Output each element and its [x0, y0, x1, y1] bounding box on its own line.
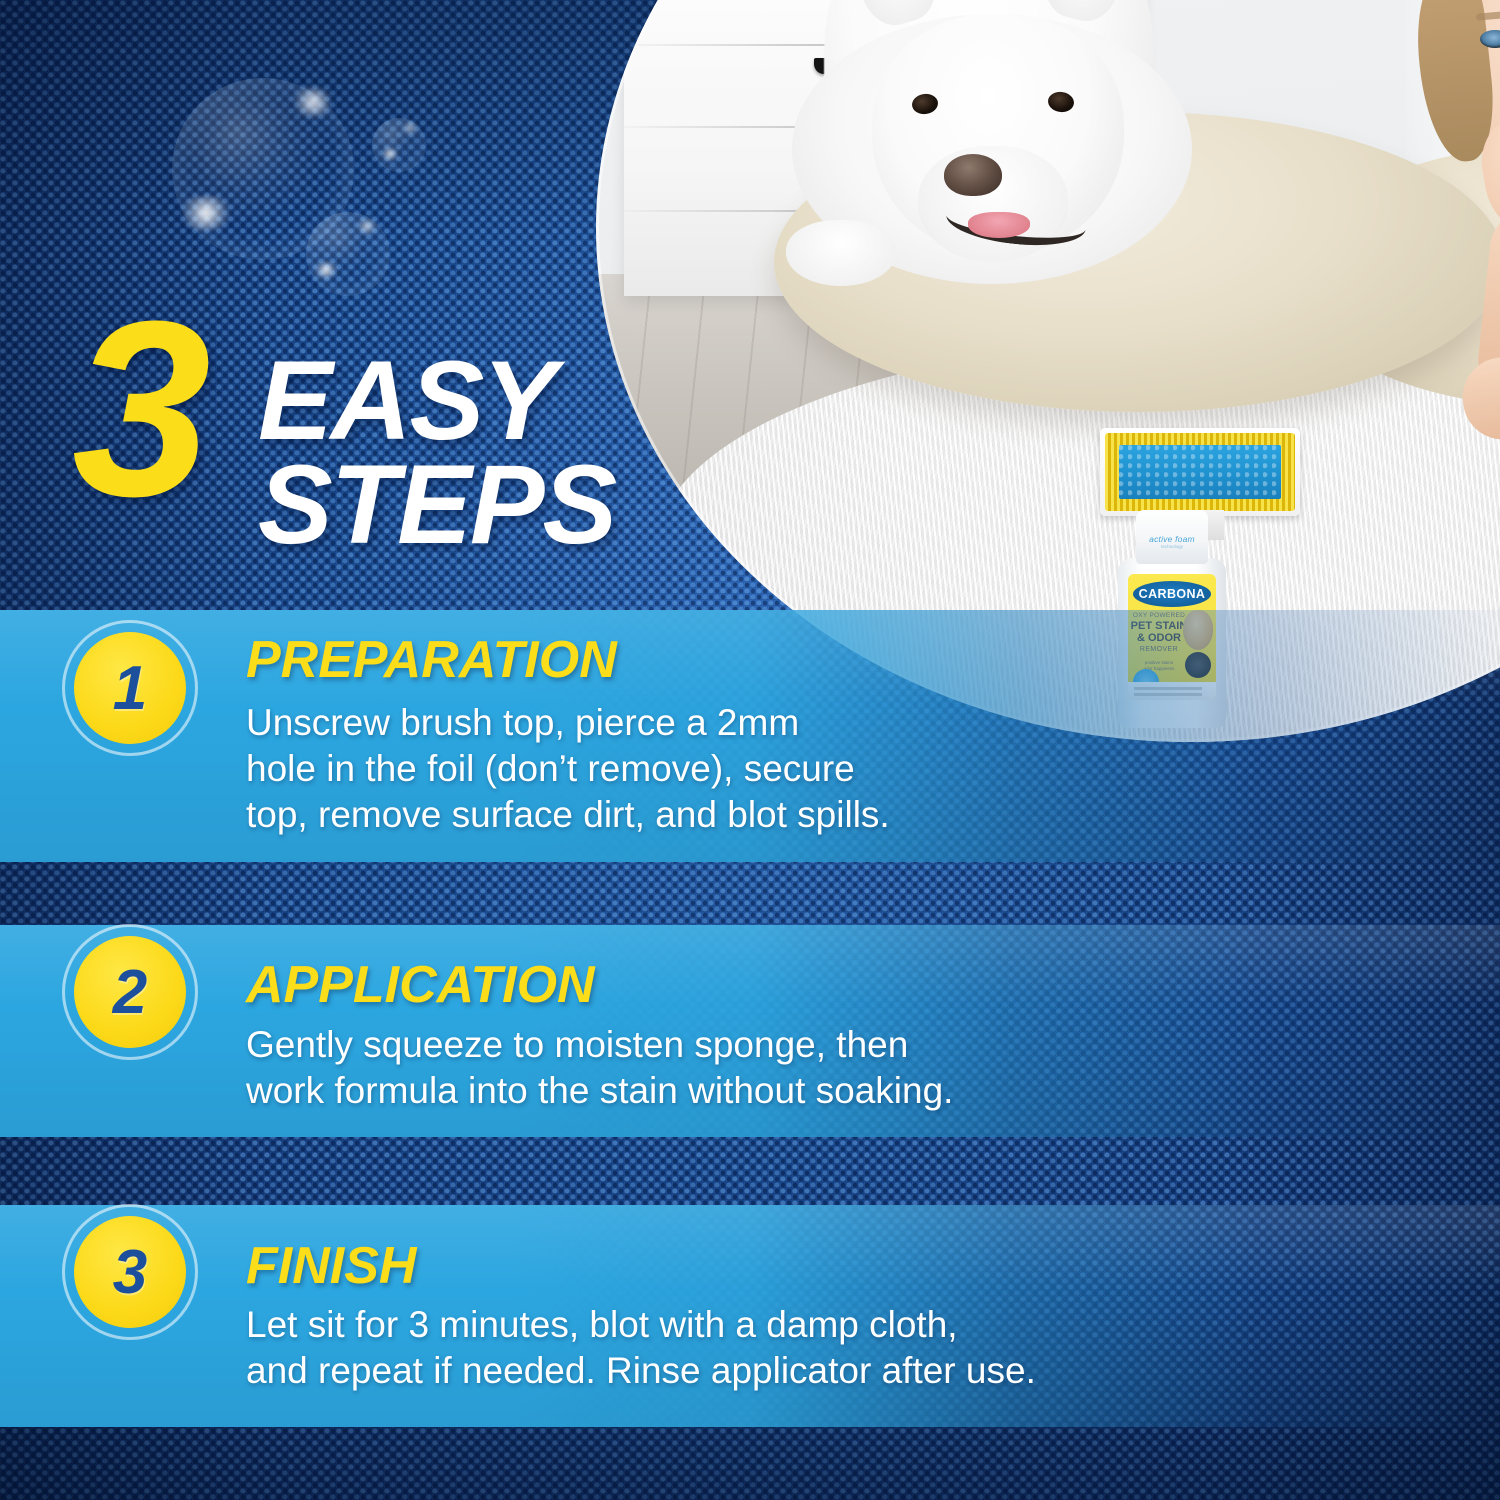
step-description-1: Unscrew brush top, pierce a 2mm hole in …	[246, 700, 1246, 838]
cap-active-foam-text: active foam	[1136, 534, 1208, 544]
step-1-line-3: top, remove surface dirt, and blot spill…	[246, 792, 1246, 838]
badge-number: 2	[74, 936, 186, 1048]
badge-number: 3	[74, 1216, 186, 1328]
bubble-glint	[176, 196, 236, 230]
bubble-glint	[312, 262, 340, 278]
step-title-2: APPLICATION	[246, 955, 595, 1015]
step-badge-3: 3	[74, 1216, 186, 1328]
step-1-line-2: hole in the foil (don’t remove), secure	[246, 746, 1246, 792]
step-1-line-1: Unscrew brush top, pierce a 2mm	[246, 700, 1246, 746]
bubble-shell	[372, 118, 426, 172]
dog-paw	[786, 220, 896, 286]
bubble-small-icon	[372, 118, 426, 172]
cap-technology-text: technology	[1136, 544, 1208, 549]
step-description-3: Let sit for 3 minutes, blot with a damp …	[246, 1302, 1396, 1394]
step-badge-2: 2	[74, 936, 186, 1048]
applicator-sponge	[1119, 445, 1281, 499]
bubble-glint	[290, 88, 336, 116]
step-3-line-1: Let sit for 3 minutes, blot with a damp …	[246, 1302, 1396, 1348]
bubble-glint	[402, 123, 418, 133]
carbona-logo: CARBONA	[1133, 581, 1211, 607]
headline-steps: STEPS	[258, 440, 615, 569]
step-title-3: FINISH	[246, 1236, 416, 1296]
dog-nose	[944, 154, 1002, 196]
dog-tongue	[968, 212, 1030, 238]
step-description-2: Gently squeeze to moisten sponge, then w…	[246, 1022, 1366, 1114]
step-title-1: PREPARATION	[246, 630, 617, 690]
step-2-line-2: work formula into the stain without soak…	[246, 1068, 1366, 1114]
brush-applicator	[1100, 428, 1300, 516]
badge-number: 1	[74, 632, 186, 744]
step-badge-1: 1	[74, 632, 186, 744]
bottle-cap: active foam technology	[1136, 510, 1208, 564]
headline: 3 EASY STEPS	[72, 300, 692, 540]
headline-number: 3	[72, 294, 201, 524]
bubble-medium-icon	[306, 212, 390, 296]
infographic-canvas: active foam technology CARBONA OXY POWER…	[0, 0, 1500, 1500]
step-2-line-1: Gently squeeze to moisten sponge, then	[246, 1022, 1366, 1068]
bubble-glint	[356, 220, 378, 233]
step-3-line-2: and repeat if needed. Rinse applicator a…	[246, 1348, 1396, 1394]
bubble-glint	[380, 148, 400, 160]
